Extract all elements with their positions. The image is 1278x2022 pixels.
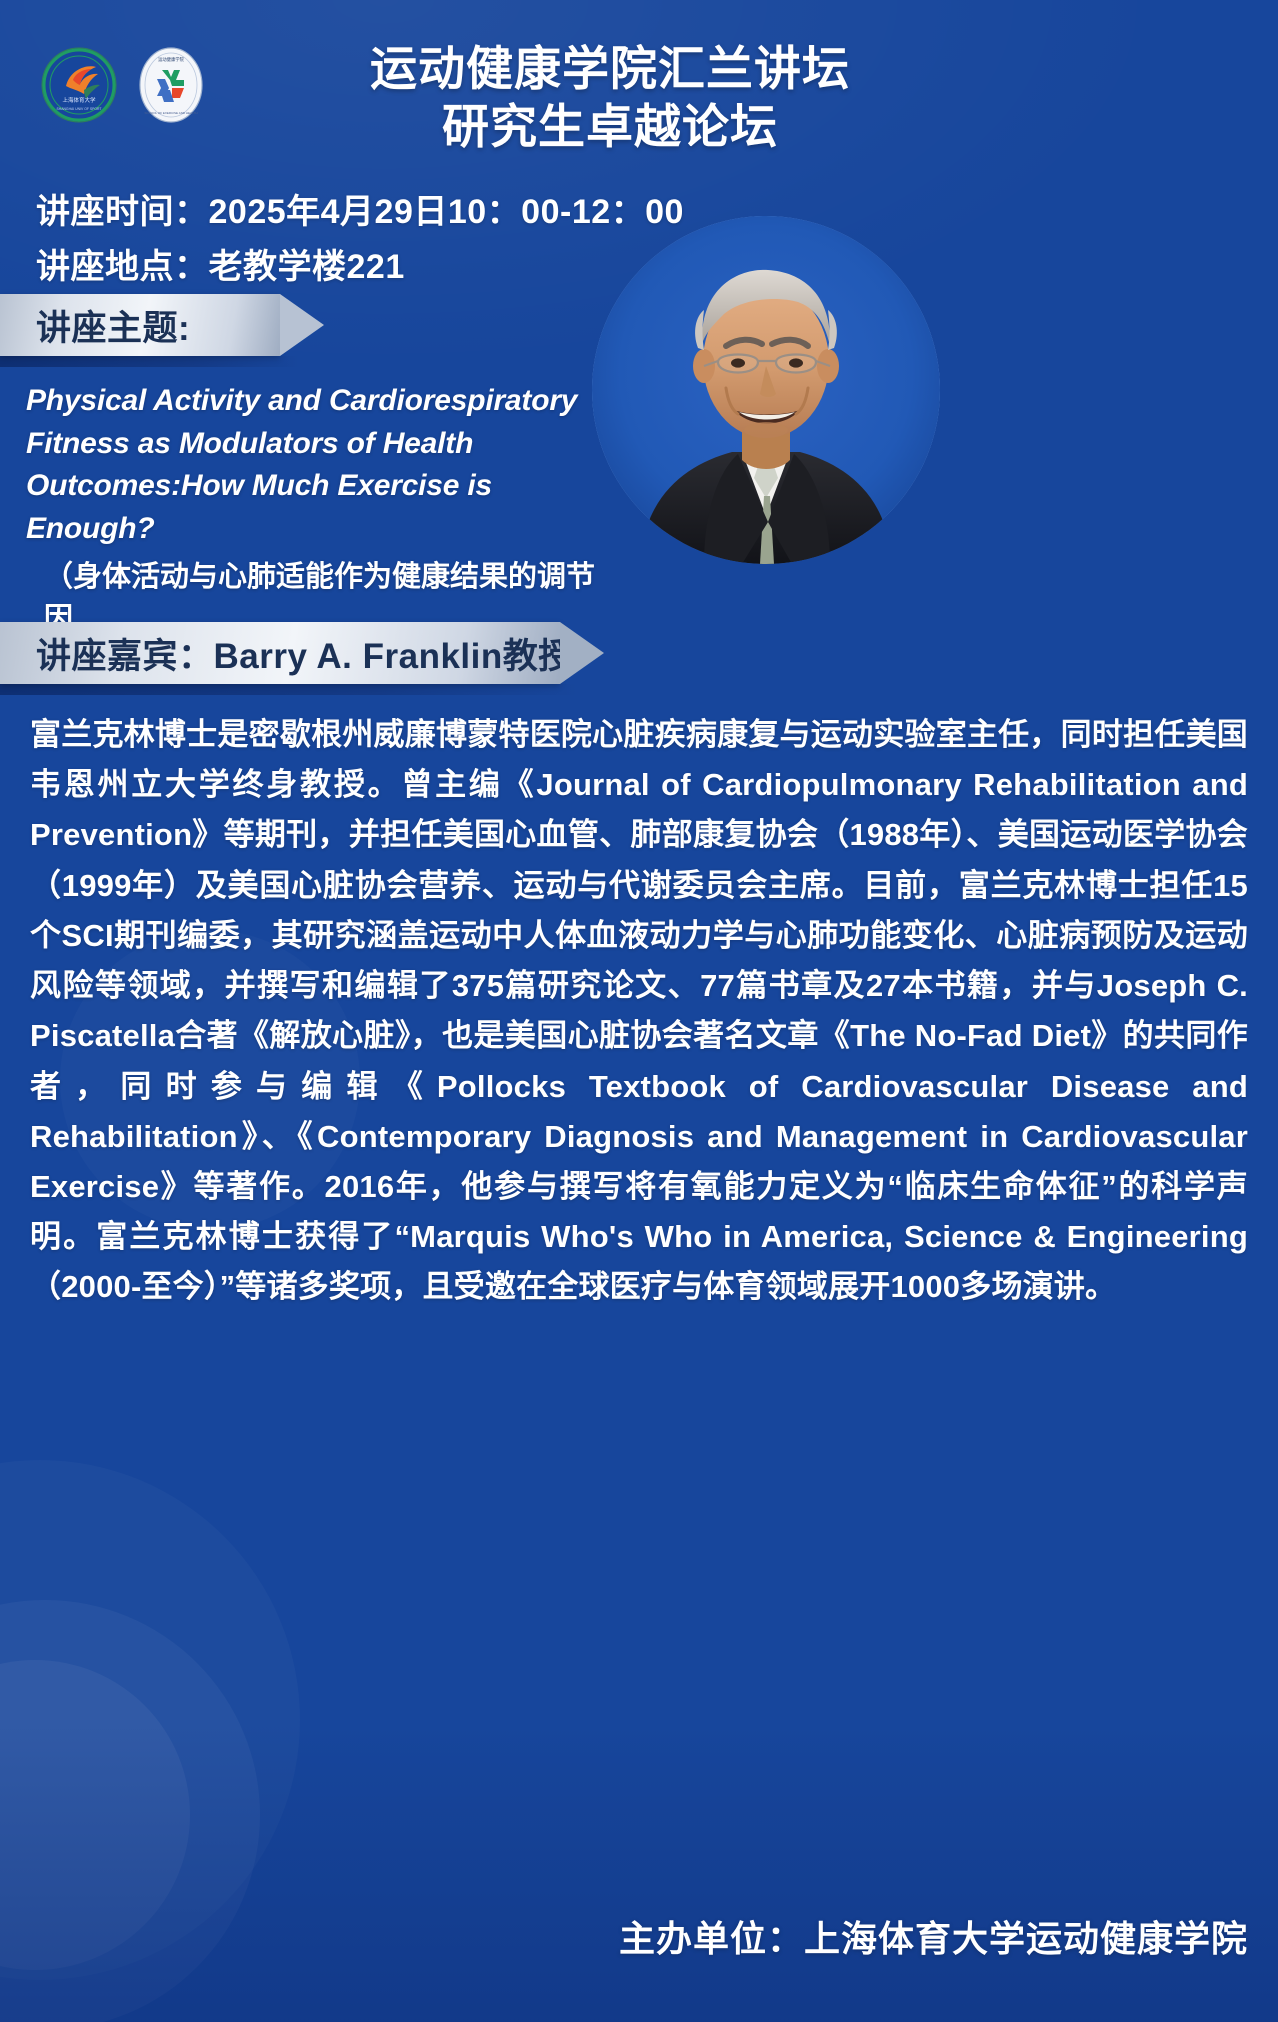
svg-text:上海体育大学: 上海体育大学	[62, 96, 96, 104]
svg-text:SHANGHAI UNIV OF SPORT: SHANGHAI UNIV OF SPORT	[57, 107, 102, 111]
guest-ribbon: 讲座嘉宾：Barry A. Franklin教授	[0, 622, 560, 684]
poster-title-line-1: 运动健康学院汇兰讲坛	[210, 40, 1010, 98]
school-of-exercise-and-health-logo-icon: 运动健康学院 SCHOOL OF EXERCISE AND HEALTH	[132, 46, 210, 124]
poster-header: 上海体育大学 SHANGHAI UNIV OF SPORT 运动健康学院 SCH…	[0, 0, 1278, 190]
talk-title-en-line-3: Outcomes:How Much Exercise is Enough?	[26, 465, 616, 550]
guest-ribbon-shadow	[0, 684, 580, 695]
talk-title-en-line-2: Fitness as Modulators of Health	[26, 423, 616, 466]
topic-ribbon: 讲座主题:	[0, 294, 280, 356]
speaker-photo	[592, 216, 940, 564]
background-circle-decoration-outer	[0, 1460, 300, 1980]
organizer-line: 主办单位：上海体育大学运动健康学院	[0, 1910, 1248, 1962]
talk-title-en-line-1: Physical Activity and Cardiorespiratory	[26, 380, 616, 423]
svg-text:SCHOOL OF EXERCISE AND HEALTH: SCHOOL OF EXERCISE AND HEALTH	[144, 111, 197, 115]
bottom-fade-decoration	[0, 1722, 1278, 2022]
topic-ribbon-label: 讲座主题:	[0, 300, 190, 351]
guest-ribbon-label: 讲座嘉宾：Barry A. Franklin教授	[0, 628, 574, 679]
lecture-poster: 上海体育大学 SHANGHAI UNIV OF SPORT 运动健康学院 SCH…	[0, 0, 1278, 2022]
poster-title: 运动健康学院汇兰讲坛 研究生卓越论坛	[210, 40, 1010, 157]
speaker-biography: 富兰克林博士是密歇根州威廉博蒙特医院心脏疾病康复与运动实验室主任，同时担任美国韦…	[30, 710, 1248, 1313]
lecture-time: 讲座时间：2025年4月29日10：00-12：00	[36, 184, 684, 233]
svg-text:运动健康学院: 运动健康学院	[158, 56, 184, 63]
logo-group: 上海体育大学 SHANGHAI UNIV OF SPORT 运动健康学院 SCH…	[40, 46, 210, 124]
topic-ribbon-shadow	[0, 356, 300, 367]
portrait-clip	[592, 216, 940, 564]
shanghai-university-of-sport-logo-icon: 上海体育大学 SHANGHAI UNIV OF SPORT	[40, 46, 118, 124]
poster-title-line-2: 研究生卓越论坛	[210, 98, 1010, 156]
speaker-portrait	[592, 216, 940, 564]
lecture-place: 讲座地点：老教学楼221	[36, 239, 405, 288]
